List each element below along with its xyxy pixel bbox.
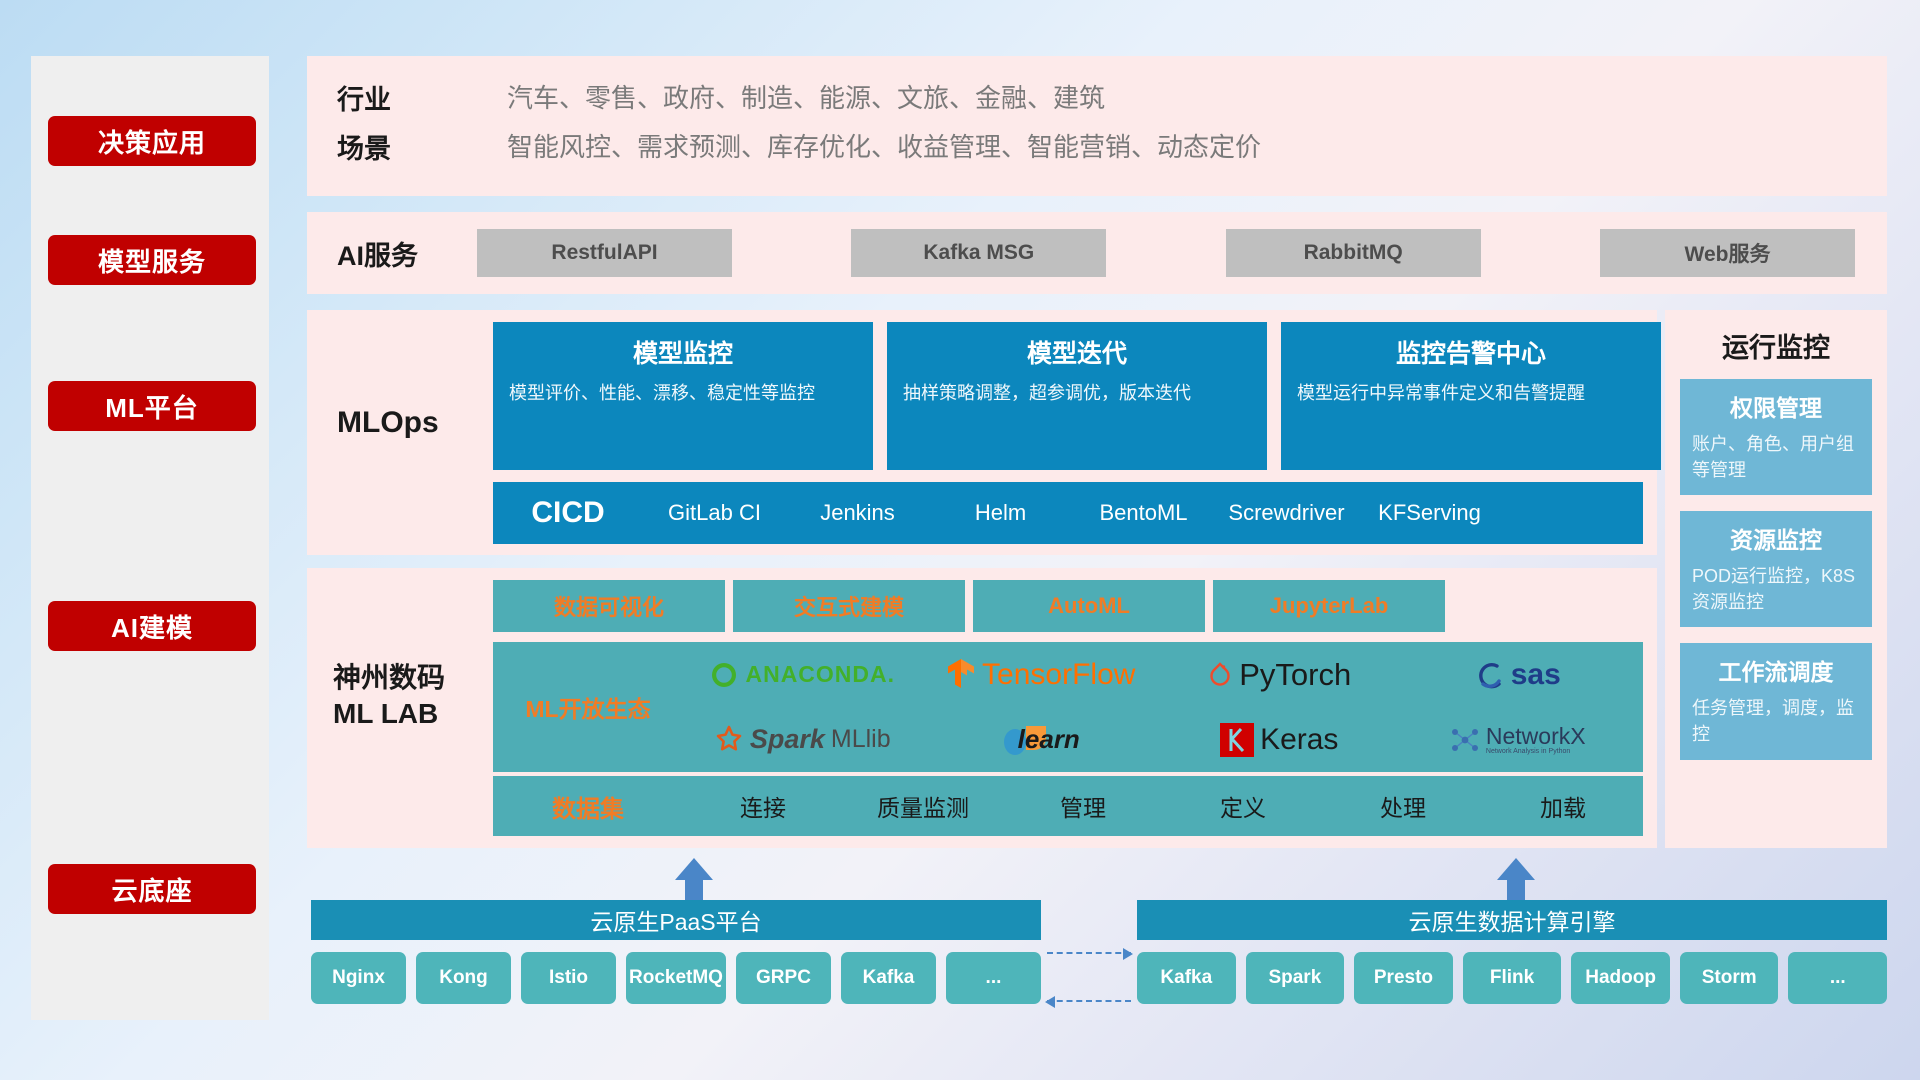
monitoring-card-resource[interactable]: 资源监控 POD运行监控，K8S资源监控 <box>1680 511 1872 627</box>
dataset-item-quality[interactable]: 质量监测 <box>843 789 1003 823</box>
lab-chip-automl[interactable]: AutoML <box>973 580 1205 632</box>
scenario-values: 智能风控、需求预测、库存优化、收益管理、智能营销、动态定价 <box>507 127 1887 166</box>
sas-label: sas <box>1511 658 1561 692</box>
paas-chip-rocketmq[interactable]: RocketMQ <box>626 952 726 1004</box>
ml-lab-label-line1: 神州数码 <box>333 660 445 696</box>
keras-label: Keras <box>1260 723 1338 757</box>
pytorch-logo: PyTorch <box>1207 657 1351 693</box>
dataset-item-load[interactable]: 加载 <box>1483 789 1643 823</box>
paas-chip-grpc[interactable]: GRPC <box>736 952 831 1004</box>
spark-mllib-logo: Spark MLlib <box>714 724 891 755</box>
monitoring-panel: 运行监控 权限管理 账户、角色、用户组等管理 资源监控 POD运行监控，K8S资… <box>1665 310 1887 848</box>
card-title: 监控告警中心 <box>1297 334 1645 370</box>
anaconda-logo: ANACONDA. <box>709 660 895 690</box>
card-title: 模型迭代 <box>903 334 1251 370</box>
engine-chip-hadoop[interactable]: Hadoop <box>1571 952 1670 1004</box>
pytorch-label: PyTorch <box>1239 657 1351 693</box>
lab-chip-data-visualization[interactable]: 数据可视化 <box>493 580 725 632</box>
service-chip-kafka-msg[interactable]: Kafka MSG <box>851 229 1106 277</box>
dataset-item-define[interactable]: 定义 <box>1163 789 1323 823</box>
cloud-paas-block: 云原生PaaS平台 Nginx Kong Istio RocketMQ GRPC… <box>311 900 1041 1004</box>
connector-arrow-right <box>1047 952 1131 954</box>
rail-item-ai-modeling[interactable]: AI建模 <box>48 601 256 651</box>
lab-chip-interactive-modeling[interactable]: 交互式建模 <box>733 580 965 632</box>
card-desc: 模型运行中异常事件定义和告警提醒 <box>1297 380 1645 406</box>
keras-logo: Keras <box>1220 723 1338 757</box>
decision-app-band: 行业 汽车、零售、政府、制造、能源、文旅、金融、建筑 场景 智能风控、需求预测、… <box>307 56 1887 196</box>
dataset-item-manage[interactable]: 管理 <box>1003 789 1163 823</box>
main-diagram: 行业 汽车、零售、政府、制造、能源、文旅、金融、建筑 场景 智能风控、需求预测、… <box>307 0 1887 1080</box>
cicd-item-jenkins[interactable]: Jenkins <box>786 500 929 525</box>
service-chip-rabbitmq[interactable]: RabbitMQ <box>1226 229 1481 277</box>
paas-chip-kong[interactable]: Kong <box>416 952 511 1004</box>
card-desc: 模型评价、性能、漂移、稳定性等监控 <box>509 380 857 406</box>
lab-chip-jupyterlab[interactable]: JupyterLab <box>1213 580 1445 632</box>
ml-lab-label-line2: ML LAB <box>333 696 445 732</box>
tensorflow-label: TensorFlow <box>982 658 1135 692</box>
scenario-label: 场景 <box>337 127 507 166</box>
cicd-item-screwdriver[interactable]: Screwdriver <box>1215 500 1358 525</box>
paas-chip-nginx[interactable]: Nginx <box>311 952 406 1004</box>
monitoring-title: 运行监控 <box>1665 310 1887 379</box>
card-desc: 抽样策略调整，超参调优，版本迭代 <box>903 380 1251 406</box>
pytorch-icon <box>1207 660 1233 690</box>
ml-ecosystem-row: ML开放生态 ANACONDA. TensorFlow <box>493 642 1643 772</box>
up-arrow-left <box>675 858 713 904</box>
cicd-row: CICD GitLab CI Jenkins Helm BentoML Scre… <box>493 482 1643 544</box>
dataset-item-connect[interactable]: 连接 <box>683 789 843 823</box>
anaconda-icon <box>709 660 739 690</box>
cloud-data-engine-title: 云原生数据计算引擎 <box>1137 900 1887 940</box>
engine-chip-spark[interactable]: Spark <box>1246 952 1345 1004</box>
ai-service-label: AI服务 <box>307 234 477 273</box>
engine-chip-more[interactable]: ... <box>1788 952 1887 1004</box>
cicd-item-helm[interactable]: Helm <box>929 500 1072 525</box>
rail-item-cloud-base[interactable]: 云底座 <box>48 864 256 914</box>
card-title: 模型监控 <box>509 334 857 370</box>
engine-chip-presto[interactable]: Presto <box>1354 952 1453 1004</box>
ml-ecosystem-label: ML开放生态 <box>493 690 683 724</box>
mlops-label: MLOps <box>337 406 439 440</box>
sas-icon <box>1475 660 1505 690</box>
cloud-data-engine-block: 云原生数据计算引擎 Kafka Spark Presto Flink Hadoo… <box>1137 900 1887 1004</box>
rail-item-decision-app[interactable]: 决策应用 <box>48 116 256 166</box>
mllib-label: MLlib <box>831 725 891 754</box>
spark-label: Spark <box>750 724 825 755</box>
rail-item-ml-platform[interactable]: ML平台 <box>48 381 256 431</box>
cicd-label: CICD <box>493 496 643 530</box>
mlops-card-model-monitoring[interactable]: 模型监控 模型评价、性能、漂移、稳定性等监控 <box>493 322 873 470</box>
sas-logo: sas <box>1475 658 1561 692</box>
networkx-logo: NetworkX Network Analysis in Python <box>1450 725 1586 755</box>
cloud-paas-title: 云原生PaaS平台 <box>311 900 1041 940</box>
tensorflow-icon <box>946 658 976 692</box>
ai-service-band: AI服务 RestfulAPI Kafka MSG RabbitMQ Web服务 <box>307 212 1887 294</box>
service-chip-web[interactable]: Web服务 <box>1600 229 1855 277</box>
monitoring-card-workflow[interactable]: 工作流调度 任务管理，调度，监控 <box>1680 643 1872 759</box>
card-desc: 账户、角色、用户组等管理 <box>1692 431 1860 483</box>
card-desc: POD运行监控，K8S资源监控 <box>1692 563 1860 615</box>
rail-item-model-service[interactable]: 模型服务 <box>48 235 256 285</box>
tensorflow-logo: TensorFlow <box>946 658 1135 692</box>
spark-star-icon <box>714 725 744 755</box>
card-title: 资源监控 <box>1692 521 1860 555</box>
dataset-row: 数据集 连接 质量监测 管理 定义 处理 加载 <box>493 776 1643 836</box>
anaconda-label: ANACONDA. <box>745 661 895 688</box>
connector-arrow-left <box>1047 1000 1131 1002</box>
card-title: 工作流调度 <box>1692 653 1860 687</box>
mlops-band: MLOps 模型监控 模型评价、性能、漂移、稳定性等监控 模型迭代 抽样策略调整… <box>307 310 1657 555</box>
cicd-item-gitlab-ci[interactable]: GitLab CI <box>643 500 786 525</box>
cicd-item-bentoml[interactable]: BentoML <box>1072 500 1215 525</box>
monitoring-card-permission[interactable]: 权限管理 账户、角色、用户组等管理 <box>1680 379 1872 495</box>
networkx-tagline: Network Analysis in Python <box>1486 748 1586 755</box>
ml-lab-label: 神州数码 ML LAB <box>333 660 445 733</box>
dataset-item-process[interactable]: 处理 <box>1323 789 1483 823</box>
industry-values: 汽车、零售、政府、制造、能源、文旅、金融、建筑 <box>507 78 1887 117</box>
service-chip-restfulapi[interactable]: RestfulAPI <box>477 229 732 277</box>
dataset-label: 数据集 <box>493 789 683 824</box>
mlops-card-alert-center[interactable]: 监控告警中心 模型运行中异常事件定义和告警提醒 <box>1281 322 1661 470</box>
engine-chip-flink[interactable]: Flink <box>1463 952 1562 1004</box>
paas-chip-istio[interactable]: Istio <box>521 952 616 1004</box>
networkx-icon <box>1450 726 1480 754</box>
keras-icon <box>1220 723 1254 757</box>
paas-chip-more[interactable]: ... <box>946 952 1041 1004</box>
paas-chip-kafka[interactable]: Kafka <box>841 952 936 1004</box>
engine-chip-storm[interactable]: Storm <box>1680 952 1779 1004</box>
card-desc: 任务管理，调度，监控 <box>1692 695 1860 747</box>
scikit-learn-logo: learn <box>1002 722 1080 758</box>
card-title: 权限管理 <box>1692 389 1860 423</box>
up-arrow-right <box>1497 858 1535 904</box>
cicd-item-kfserving[interactable]: KFServing <box>1358 500 1501 525</box>
networkx-label: NetworkX <box>1486 725 1586 748</box>
learn-label: learn <box>1018 724 1080 755</box>
industry-label: 行业 <box>337 78 507 117</box>
engine-chip-kafka[interactable]: Kafka <box>1137 952 1236 1004</box>
left-rail: 决策应用 模型服务 ML平台 AI建模 云底座 <box>31 56 269 1020</box>
mlops-card-model-iteration[interactable]: 模型迭代 抽样策略调整，超参调优，版本迭代 <box>887 322 1267 470</box>
ml-lab-band: 神州数码 ML LAB 数据可视化 交互式建模 AutoML JupyterLa… <box>307 568 1657 848</box>
